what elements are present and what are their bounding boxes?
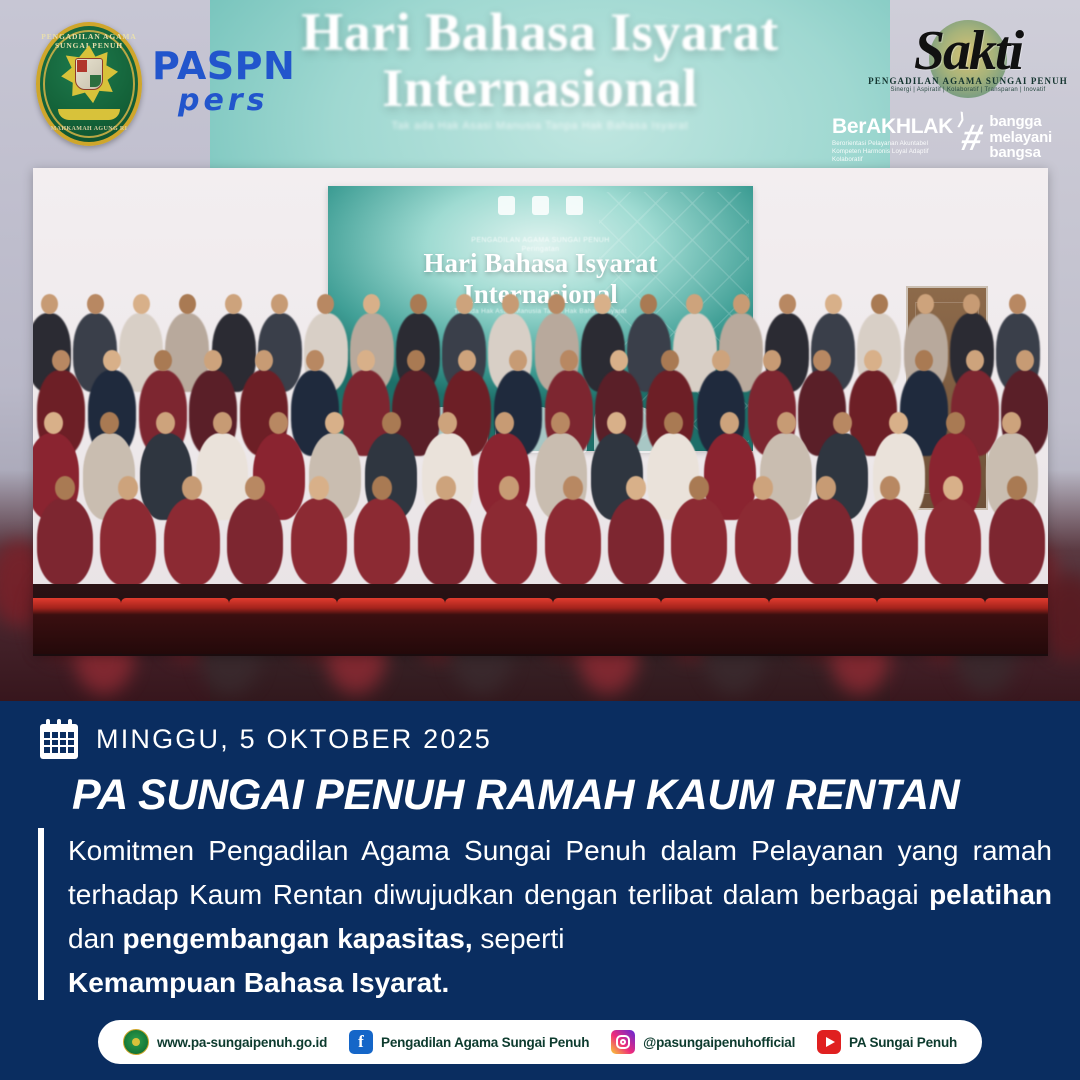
footer-label-website: www.pa-sungaipenuh.go.id (157, 1035, 327, 1050)
social-footer: www.pa-sungaipenuh.go.id f Pengadilan Ag… (98, 1020, 982, 1064)
paspn-pers-label: pers (178, 84, 295, 118)
calendar-grid (44, 732, 74, 753)
bangga-line2: melayani (989, 130, 1052, 146)
instagram-icon (611, 1030, 635, 1054)
sakti-tagline: Sinergi | Aspiratif | Kolaboratif | Tran… (868, 87, 1068, 93)
body-seg-1: Komitmen Pengadilan Agama Sungai Penuh d… (68, 835, 1052, 910)
footer-label-instagram: @pasungaipenuhofficial (643, 1035, 795, 1050)
date-row: MINGGU, 5 OKTOBER 2025 (40, 719, 492, 759)
emblem-arc-bottom: MAHKAMAH AGUNG RI (36, 126, 142, 132)
sakti-logo: Sakti PENGADILAN AGAMA SUNGAI PENUH Sine… (868, 18, 1068, 110)
paspn-wordmark: PASPN (152, 48, 295, 84)
main-photo: PENGADILAN AGAMA SUNGAI PENUH Peringatan… (33, 168, 1048, 656)
sakti-wordmark: Sakti (868, 18, 1068, 84)
footer-item-youtube[interactable]: PA Sungai Penuh (817, 1030, 957, 1054)
emblem-shield (75, 58, 103, 90)
court-emblem-icon: PENGADILAN AGAMA SUNGAI PENUH MAHKAMAH A… (36, 22, 142, 146)
banner-kop-line1: PENGADILAN AGAMA SUNGAI PENUH (328, 236, 753, 245)
berakhlak-title-text: BerAKHLAK (832, 115, 953, 138)
banner-logos (328, 196, 753, 215)
body-text: Komitmen Pengadilan Agama Sungai Penuh d… (68, 829, 1052, 1005)
youtube-icon (817, 1030, 841, 1054)
body-seg-2: dan (68, 923, 123, 954)
calendar-icon (40, 719, 78, 759)
footer-item-instagram[interactable]: @pasungaipenuhofficial (611, 1030, 795, 1054)
page-title: PA SUNGAI PENUH RAMAH KAUM RENTAN (72, 771, 1050, 819)
bangga-text: bangga melayani bangsa (989, 114, 1052, 161)
footer-label-facebook: Pengadilan Agama Sungai Penuh (381, 1035, 589, 1050)
hashtag-icon: # (958, 119, 986, 156)
sakti-subtitle: PENGADILAN AGAMA SUNGAI PENUH (868, 76, 1068, 86)
footer-item-website[interactable]: www.pa-sungaipenuh.go.id (123, 1029, 327, 1055)
photo-chairs (33, 584, 1048, 656)
body-bold-1: pelatihan (929, 879, 1052, 910)
banner-title-line1: Hari Bahasa Isyarat (328, 248, 753, 279)
accent-bar (38, 828, 44, 1000)
facebook-icon: f (349, 1030, 373, 1054)
emblem-ribbon (58, 109, 120, 120)
footer-item-facebook[interactable]: f Pengadilan Agama Sungai Penuh (349, 1030, 589, 1054)
bangga-line3: bangsa (989, 145, 1052, 161)
date-text: MINGGU, 5 OKTOBER 2025 (96, 724, 492, 755)
body-bold-2: pengembangan kapasitas, (123, 923, 473, 954)
paspn-pers-logo: PASPN pers (152, 48, 295, 118)
bangga-melayani-bangsa-badge: # bangga melayani bangsa (962, 114, 1052, 161)
footer-label-youtube: PA Sungai Penuh (849, 1035, 957, 1050)
berakhlak-title: BerAKHLAK ⟩ (832, 116, 953, 138)
photo-crowd (33, 290, 1048, 590)
berakhlak-badge: BerAKHLAK ⟩ Berorientasi Pelayanan Akunt… (832, 116, 952, 164)
body-seg-3: seperti (473, 923, 565, 954)
poster-canvas: Hari Bahasa Isyarat Internasional Tak ad… (0, 0, 1080, 1080)
bangga-line1: bangga (989, 114, 1052, 130)
berakhlak-tagline: Berorientasi Pelayanan Akuntabel Kompete… (832, 140, 952, 164)
body-bold-3: Kemampuan Bahasa Isyarat. (68, 961, 1052, 1005)
website-icon (123, 1029, 149, 1055)
